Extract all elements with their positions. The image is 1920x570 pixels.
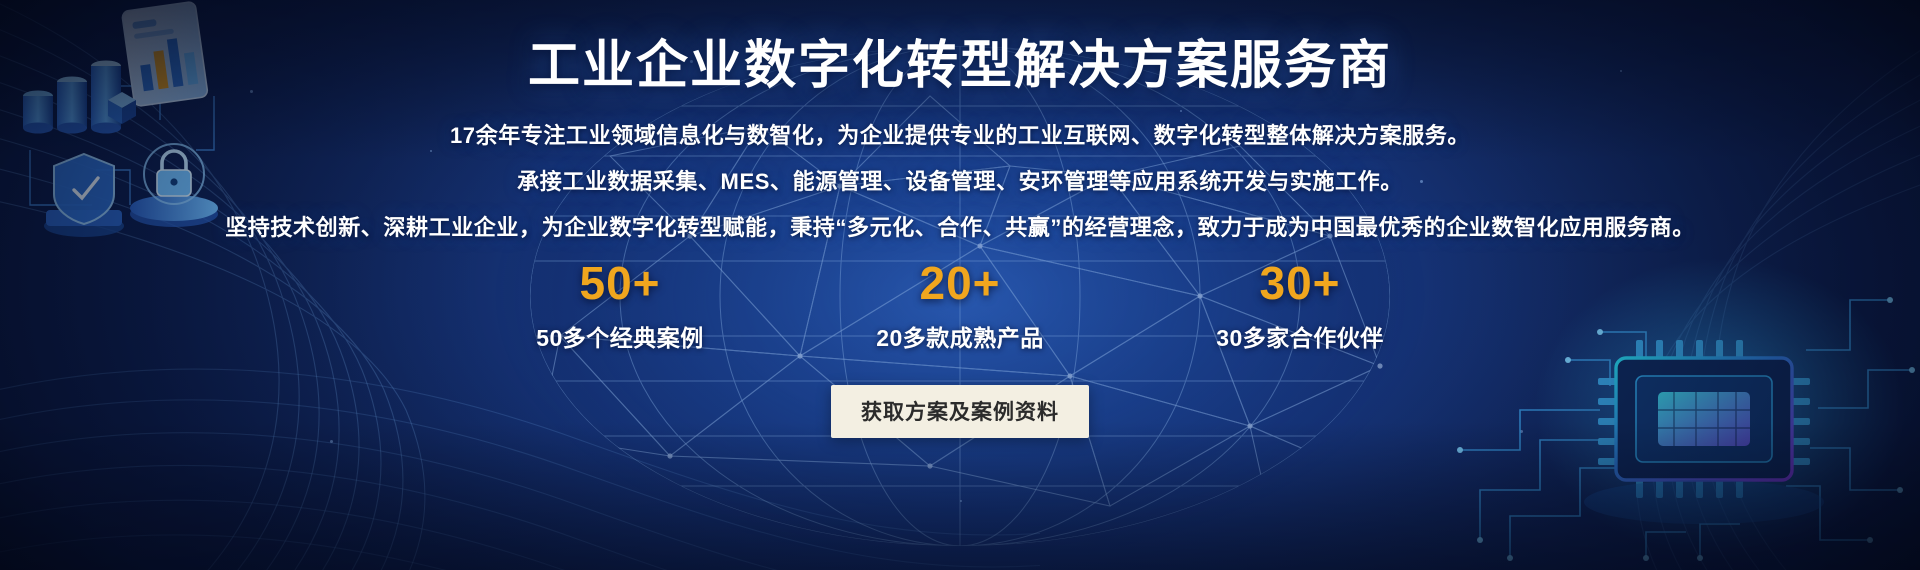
stat-label-partners: 30多家合作伙伴: [1180, 319, 1420, 353]
banner-content: 工业企业数字化转型解决方案服务商 17余年专注工业领域信息化与数智化，为企业提供…: [0, 0, 1920, 570]
get-solution-materials-button[interactable]: 获取方案及案例资料: [831, 385, 1089, 438]
stat-item-products: 20+ 20多款成熟产品: [840, 258, 1080, 353]
description-line-2: 承接工业数据采集、MES、能源管理、设备管理、安环管理等应用系统开发与实施工作。: [0, 159, 1920, 205]
stat-item-cases: 50+ 50多个经典案例: [500, 258, 740, 353]
stat-number-partners: 30+: [1180, 258, 1420, 309]
stats-row: 50+ 50多个经典案例 20+ 20多款成熟产品 30+ 30多家合作伙伴: [0, 258, 1920, 353]
stat-number-products: 20+: [840, 258, 1080, 309]
promo-banner: 工业企业数字化转型解决方案服务商 17余年专注工业领域信息化与数智化，为企业提供…: [0, 0, 1920, 570]
banner-description: 17余年专注工业领域信息化与数智化，为企业提供专业的工业互联网、数字化转型整体解…: [0, 113, 1920, 251]
stat-label-cases: 50多个经典案例: [500, 319, 740, 353]
cta-container: 获取方案及案例资料: [0, 385, 1920, 438]
stat-number-cases: 50+: [500, 258, 740, 309]
description-line-3: 坚持技术创新、深耕工业企业，为企业数字化转型赋能，秉持“多元化、合作、共赢”的经…: [0, 205, 1920, 251]
stat-label-products: 20多款成熟产品: [840, 319, 1080, 353]
description-line-1: 17余年专注工业领域信息化与数智化，为企业提供专业的工业互联网、数字化转型整体解…: [0, 113, 1920, 159]
banner-title: 工业企业数字化转型解决方案服务商: [0, 38, 1920, 95]
stat-item-partners: 30+ 30多家合作伙伴: [1180, 258, 1420, 353]
